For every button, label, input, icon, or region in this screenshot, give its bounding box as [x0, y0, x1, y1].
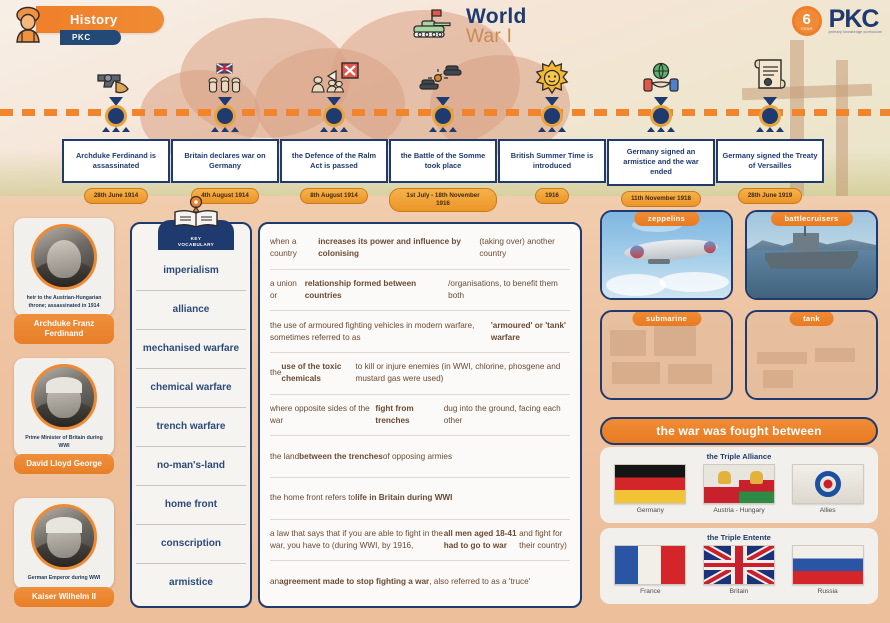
flag-france	[614, 545, 686, 585]
flag-label: Austria - Hungary	[698, 507, 780, 514]
timeline-item-4[interactable]: British Summer Time is introduced 1916	[498, 52, 606, 204]
timeline-item-3[interactable]: the Battle of the Somme took place 1st J…	[389, 52, 497, 212]
timeline-node[interactable]	[432, 105, 454, 127]
flag-cell: Austria - Hungary	[698, 464, 780, 514]
timeline-node[interactable]	[759, 105, 781, 127]
vocabulary-definition: when a country increases its power and i…	[270, 228, 570, 270]
tanks-battle-icon	[418, 52, 468, 96]
pkc-logo: PKC	[829, 8, 882, 31]
flag-label: Britain	[698, 588, 780, 595]
figure-name: Kaiser Wilhelm II	[14, 587, 114, 607]
timeline-chevrons	[756, 127, 784, 132]
alliance-group-title: the Triple Entente	[606, 533, 872, 542]
vocabulary-definition: the use of the toxic chemicals to kill o…	[270, 353, 570, 395]
technology-card-zeppelins[interactable]: zeppelins	[600, 210, 733, 300]
flag-russia	[792, 545, 864, 585]
vocabulary-term: armistice	[136, 564, 246, 602]
timeline-item-5[interactable]: Germany signed an armistice and the war …	[607, 52, 715, 207]
vocabulary-tab-line1: KEY	[191, 236, 202, 241]
flag-germany	[614, 464, 686, 504]
timeline-node[interactable]	[105, 105, 127, 127]
flag-label: France	[609, 588, 691, 595]
flag-label: Russia	[787, 588, 869, 595]
flag-britain	[703, 545, 775, 585]
figure-description: heir to the Austrian-Hungarian throne; a…	[19, 295, 109, 313]
flag-austria-hungary	[703, 464, 775, 504]
vocabulary-term: mechanised warfare	[136, 330, 246, 369]
flag-cell: France	[609, 545, 691, 595]
page-title-line1: World	[466, 6, 527, 27]
timeline-event-label: Archduke Ferdinand is assassinated	[62, 139, 170, 183]
soldier-mascot-icon	[8, 6, 48, 44]
open-book-icon	[172, 196, 220, 230]
subject-tab[interactable]: History	[36, 6, 164, 33]
vocabulary-definition: the home front refers to life in Britain…	[270, 478, 570, 520]
figure-portrait	[31, 364, 97, 430]
vocabulary-term: home front	[136, 486, 246, 525]
tank-icon	[410, 8, 456, 45]
timeline-date-pill: 1st July - 18th November 1916	[389, 188, 497, 212]
figure-description: Prime Minister of Britain during WWI	[19, 435, 109, 453]
timeline-date-pill: 11th November 1918	[621, 191, 701, 207]
figure-portrait	[31, 504, 97, 570]
vocabulary-term: alliance	[136, 291, 246, 330]
vocabulary-term: trench warfare	[136, 408, 246, 447]
year-badge: 6 YEAR	[792, 6, 822, 36]
alliance-group-triple-alliance: the Triple Alliance Germany Austria - Hu…	[600, 447, 878, 523]
technology-label: submarine	[632, 311, 701, 326]
timeline-item-1[interactable]: Britain declares war on Germany 4th Augu…	[171, 52, 279, 204]
vocabulary-terms-column: imperialism alliance mechanised warfare …	[130, 222, 252, 608]
timeline-chevrons	[647, 127, 675, 132]
timeline-node[interactable]	[323, 105, 345, 127]
timeline-event-label: Britain declares war on Germany	[171, 139, 279, 183]
vocabulary-term: no-man's-land	[136, 447, 246, 486]
year-word: YEAR	[801, 27, 813, 31]
technology-label: zeppelins	[634, 211, 699, 226]
vocabulary-definition: the use of armoured fighting vehicles in…	[270, 311, 570, 353]
figure-card-1[interactable]: Prime Minister of Britain during WWI Dav…	[14, 358, 114, 474]
brand-tab: PKC	[60, 30, 121, 45]
timeline-event-label: the Battle of the Somme took place	[389, 139, 497, 183]
technology-card-submarine[interactable]: submarine	[600, 310, 733, 400]
alliances-heading: the war was fought between	[600, 417, 878, 445]
timeline-date-pill: 28th June 1919	[738, 188, 802, 204]
flag-label: Allies	[787, 507, 869, 514]
vocabulary-term: chemical warfare	[136, 369, 246, 408]
vocabulary-tab-line2: VOCABULARY	[178, 242, 214, 247]
timeline-date-pill: 28th June 1914	[84, 188, 148, 204]
flag-cell: Russia	[787, 545, 869, 595]
figure-portrait	[31, 224, 97, 290]
timeline-event-label: Germany signed an armistice and the war …	[607, 139, 715, 186]
british-soldiers-icon	[203, 52, 247, 96]
vocabulary-term: imperialism	[136, 252, 246, 291]
vocabulary-definitions-column: when a country increases its power and i…	[258, 222, 582, 608]
flag-cell: Allies	[787, 464, 869, 514]
key-vocabulary-panel: KEY VOCABULARY imperialism alliance mech…	[130, 222, 582, 608]
pistol-icon	[94, 52, 138, 96]
header-title-group: World War I	[410, 6, 527, 48]
header-right: 6 YEAR PKC primary knowledge curriculum	[792, 6, 882, 36]
flag-cell: Britain	[698, 545, 780, 595]
year-number: 6	[802, 12, 810, 27]
alliance-group-title: the Triple Alliance	[606, 452, 872, 461]
technology-label: tank	[789, 311, 834, 326]
sun-icon	[534, 52, 570, 96]
timeline-node[interactable]	[541, 105, 563, 127]
technology-label: battlecruisers	[770, 211, 852, 226]
timeline-event-label: Germany signed the Treaty of Versailles	[716, 139, 824, 183]
figure-name: David Lloyd George	[14, 454, 114, 474]
figure-card-0[interactable]: heir to the Austrian-Hungarian throne; a…	[14, 218, 114, 344]
timeline-item-0[interactable]: Archduke Ferdinand is assassinated 28th …	[62, 52, 170, 204]
page-title-line2: War I	[466, 27, 527, 48]
pkc-logo-subtitle: primary knowledge curriculum	[829, 30, 882, 34]
alliance-group-triple-entente: the Triple Entente France Britain Russia	[600, 528, 878, 604]
header-left: History PKC	[8, 6, 164, 44]
flag-allies-roundel	[792, 464, 864, 504]
figure-body: heir to the Austrian-Hungarian throne; a…	[14, 218, 114, 316]
figure-body: German Emperor during WWI	[14, 498, 114, 589]
megaphone-crowd-icon	[306, 52, 362, 96]
flag-label: Germany	[609, 507, 691, 514]
timeline-item-6[interactable]: Germany signed the Treaty of Versailles …	[716, 52, 824, 204]
vocabulary-definition: a law that says that if you are able to …	[270, 520, 570, 562]
technology-card-battlecruisers[interactable]: battlecruisers	[745, 210, 878, 300]
timeline-chevrons	[429, 127, 457, 132]
vocabulary-definition: a union or relationship formed between c…	[270, 270, 570, 312]
vocabulary-definition: where opposite sides of the war fight fr…	[270, 395, 570, 437]
timeline-node[interactable]	[214, 105, 236, 127]
timeline-item-2[interactable]: the Defence of the Ralm Act is passed 8t…	[280, 52, 388, 204]
vocabulary-definition: the land between the trenches of opposin…	[270, 436, 570, 478]
timeline-node[interactable]	[650, 105, 672, 127]
timeline-chevrons	[211, 127, 239, 132]
timeline-chevrons	[102, 127, 130, 132]
timeline-date-pill: 1916	[535, 188, 569, 204]
vocabulary-term: conscription	[136, 525, 246, 564]
technology-grid: zeppelins battlecruisers submarine tan	[600, 210, 878, 400]
timeline-chevrons	[320, 127, 348, 132]
flag-cell: Germany	[609, 464, 691, 514]
timeline-event-label: British Summer Time is introduced	[498, 139, 606, 183]
infographic-page: History PKC World War I 6	[0, 0, 890, 623]
timeline-event-label: the Defence of the Ralm Act is passed	[280, 139, 388, 183]
figure-body: Prime Minister of Britain during WWI	[14, 358, 114, 456]
figure-card-2[interactable]: German Emperor during WWI Kaiser Wilhelm…	[14, 498, 114, 607]
timeline-date-pill: 8th August 1914	[300, 188, 368, 204]
figure-name: Archduke Franz Ferdinand	[14, 314, 114, 344]
vocabulary-definition: an agreement made to stop fighting a war…	[270, 561, 570, 602]
scroll-treaty-icon	[753, 52, 787, 96]
timeline-chevrons	[538, 127, 566, 132]
wooden-post	[836, 60, 848, 200]
figure-description: German Emperor during WWI	[19, 575, 109, 586]
handshake-globe-icon	[641, 52, 681, 96]
technology-card-tank[interactable]: tank	[745, 310, 878, 400]
